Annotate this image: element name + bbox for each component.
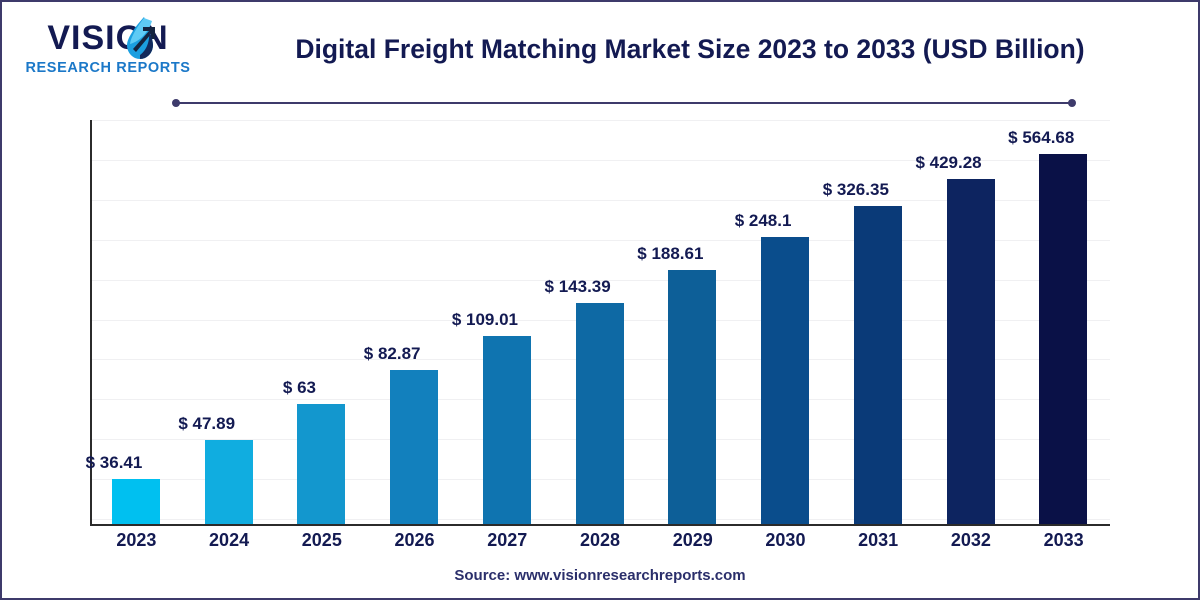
- bar[interactable]: [576, 303, 624, 524]
- bar-chart: $ 36.41$ 47.89$ 63$ 82.87$ 109.01$ 143.3…: [90, 120, 1110, 526]
- bar-slot: $ 564.68: [1017, 119, 1110, 524]
- source-caption: Source: www.visionresearchreports.com: [2, 567, 1198, 584]
- bar-value-label: $ 564.68: [999, 128, 1083, 148]
- bar[interactable]: [761, 237, 809, 524]
- divider-line: [176, 102, 1072, 104]
- bar-slot: $ 143.39: [554, 119, 647, 524]
- bar[interactable]: [205, 440, 253, 524]
- bar-value-label: $ 63: [257, 378, 341, 398]
- bar[interactable]: [297, 404, 345, 524]
- bar-value-label: $ 36.41: [72, 453, 156, 473]
- x-axis-tick-label: 2027: [461, 530, 554, 551]
- bar[interactable]: [112, 479, 160, 524]
- title-divider: [172, 101, 1076, 105]
- x-axis-labels: 2023202420252026202720282029203020312032…: [90, 530, 1110, 556]
- divider-dot-right: [1068, 99, 1076, 107]
- x-axis-tick-label: 2030: [739, 530, 832, 551]
- bar-slot: $ 63: [275, 119, 368, 524]
- x-axis-tick-label: 2028: [554, 530, 647, 551]
- bar-value-label: $ 47.89: [165, 414, 249, 434]
- bar-slot: $ 326.35: [832, 119, 925, 524]
- logo-wordmark: VISION: [18, 18, 198, 58]
- bar[interactable]: [390, 370, 438, 524]
- bar-value-label: $ 188.61: [628, 244, 712, 264]
- x-axis-tick-label: 2032: [925, 530, 1018, 551]
- page-title: Digital Freight Matching Market Size 202…: [210, 30, 1170, 68]
- brand-logo: VISION RESEARCH REPORTS: [18, 14, 198, 80]
- bar-value-label: $ 429.28: [907, 153, 991, 173]
- bar-slot: $ 188.61: [646, 119, 739, 524]
- bar-value-label: $ 82.87: [350, 344, 434, 364]
- bar-slot: $ 36.41: [90, 119, 183, 524]
- bar-value-label: $ 326.35: [814, 180, 898, 200]
- bar[interactable]: [854, 206, 902, 524]
- x-axis-tick-label: 2033: [1017, 530, 1110, 551]
- bar-value-label: $ 248.1: [721, 211, 805, 231]
- bar-value-label: $ 109.01: [443, 310, 527, 330]
- bar-series: $ 36.41$ 47.89$ 63$ 82.87$ 109.01$ 143.3…: [90, 120, 1110, 525]
- x-axis-tick-label: 2026: [368, 530, 461, 551]
- x-axis-tick-label: 2023: [90, 530, 183, 551]
- water-droplet-arrow-icon: [119, 15, 159, 61]
- bar-slot: $ 47.89: [183, 119, 276, 524]
- bar[interactable]: [483, 336, 531, 524]
- x-axis-tick-label: 2031: [832, 530, 925, 551]
- bar-slot: $ 109.01: [461, 119, 554, 524]
- x-axis-tick-label: 2024: [183, 530, 276, 551]
- bar[interactable]: [947, 179, 995, 524]
- bar-value-label: $ 143.39: [536, 277, 620, 297]
- bar-slot: $ 429.28: [925, 119, 1018, 524]
- logo-subtitle: RESEARCH REPORTS: [18, 60, 198, 76]
- header: VISION RESEARCH REPORTS Digital Freight …: [2, 2, 1198, 90]
- chart-page: VISION RESEARCH REPORTS Digital Freight …: [0, 0, 1200, 600]
- x-axis-tick-label: 2025: [275, 530, 368, 551]
- bar[interactable]: [668, 270, 716, 524]
- bar[interactable]: [1039, 154, 1087, 524]
- x-axis-tick-label: 2029: [646, 530, 739, 551]
